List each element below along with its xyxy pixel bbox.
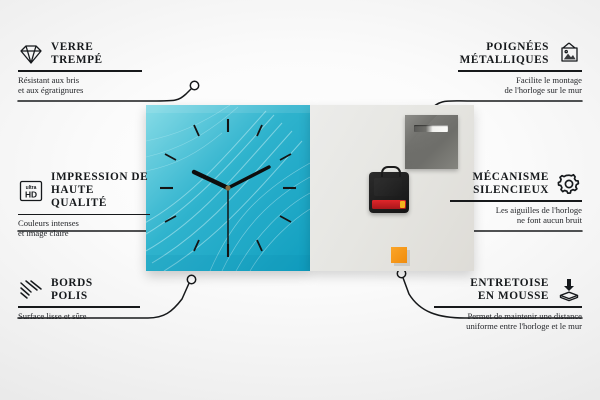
feature-title: POIGNÉES MÉTALLIQUES: [460, 41, 549, 67]
clock-front-panel: [146, 105, 310, 271]
feature-entretoise-en-mousse: ENTRETOISE EN MOUSSE Permet de maintenir…: [434, 277, 582, 332]
feature-rule: [18, 214, 150, 215]
feature-rule: [450, 200, 582, 201]
feature-verre-trempe: VERRE TREMPÉ Résistant aux bris et aux é…: [18, 41, 142, 96]
feature-rule: [18, 306, 140, 307]
mechanism-highlight: [374, 178, 402, 196]
feature-rule: [458, 70, 582, 71]
foam-spacer-icon: [556, 277, 582, 303]
diamond-icon: [18, 41, 44, 67]
feature-impression-haute-qualite: ultra HD IMPRESSION DE HAUTE QUALITÉ Cou…: [18, 171, 150, 239]
feature-rule: [18, 70, 142, 71]
feature-title: MÉCANISME SILENCIEUX: [473, 171, 550, 197]
clock-dial: [146, 105, 310, 271]
infographic-canvas: VERRE TREMPÉ Résistant aux bris et aux é…: [0, 0, 600, 400]
ultra-hd-icon: ultra HD: [18, 178, 44, 204]
feature-title: ENTRETOISE EN MOUSSE: [470, 277, 549, 303]
feature-subtitle: Les aiguilles de l'horloge ne font aucun…: [450, 205, 582, 226]
feature-subtitle: Couleurs intenses et image claire: [18, 218, 150, 239]
gear-icon: [556, 171, 582, 197]
feature-subtitle: Résistant aux bris et aux égratignures: [18, 75, 142, 96]
feature-mecanisme-silencieux: MÉCANISME SILENCIEUX Les aiguilles de l'…: [450, 171, 582, 226]
feature-title: VERRE TREMPÉ: [51, 41, 103, 67]
feature-subtitle: Surface lisse et sûre: [18, 311, 140, 321]
clock-mechanism: [369, 172, 409, 213]
svg-text:HD: HD: [25, 189, 37, 199]
wall-frame-icon: [556, 41, 582, 67]
feature-poignees-metalliques: POIGNÉES MÉTALLIQUES Facilite le montage…: [458, 41, 582, 96]
battery: [372, 200, 406, 209]
hanger-plate: [405, 115, 458, 169]
feature-title: BORDS POLIS: [51, 277, 93, 303]
polished-edge-icon: [18, 277, 44, 303]
feature-bords-polis: BORDS POLIS Surface lisse et sûre: [18, 277, 140, 321]
mechanism-hanging-loop: [381, 166, 401, 177]
feature-title: IMPRESSION DE HAUTE QUALITÉ: [51, 171, 150, 211]
hanger-keyhole-slot: [414, 125, 448, 132]
feature-subtitle: Permet de maintenir une distance uniform…: [434, 311, 582, 332]
feature-rule: [434, 306, 582, 307]
feature-subtitle: Facilite le montage de l'horloge sur le …: [458, 75, 582, 96]
foam-spacer: [391, 247, 407, 263]
